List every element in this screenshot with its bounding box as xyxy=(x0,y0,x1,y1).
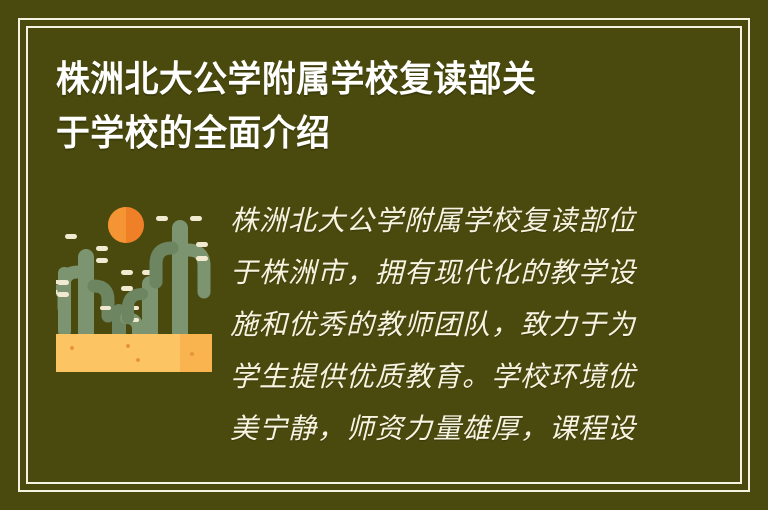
body-line-1: 株洲北大公学附属学校复读部位 xyxy=(230,196,650,248)
page-title: 株洲北大公学附属学校复读部关 于学校的全面介绍 xyxy=(56,52,656,160)
title-line-1: 株洲北大公学附属学校复读部关 xyxy=(56,52,620,106)
sand-ground xyxy=(56,334,212,372)
body-line-2: 于株洲市，拥有现代化的教学设 xyxy=(230,248,650,300)
sun-icon xyxy=(108,207,144,243)
body-line-3: 施和优秀的教师团队，致力于为 xyxy=(230,300,650,352)
body-line-4: 学生提供优质教育。学校环境优 xyxy=(230,352,650,404)
body-text: 株洲北大公学附属学校复读部位 于株洲市，拥有现代化的教学设 施和优秀的教师团队，… xyxy=(230,196,650,456)
poster-canvas: 株洲北大公学附属学校复读部关 于学校的全面介绍 xyxy=(0,0,768,510)
body-line-5: 美宁静，师资力量雄厚，课程设 xyxy=(230,404,650,456)
desert-cactus-illustration xyxy=(56,194,212,372)
title-line-2: 于学校的全面介绍 xyxy=(56,106,620,160)
